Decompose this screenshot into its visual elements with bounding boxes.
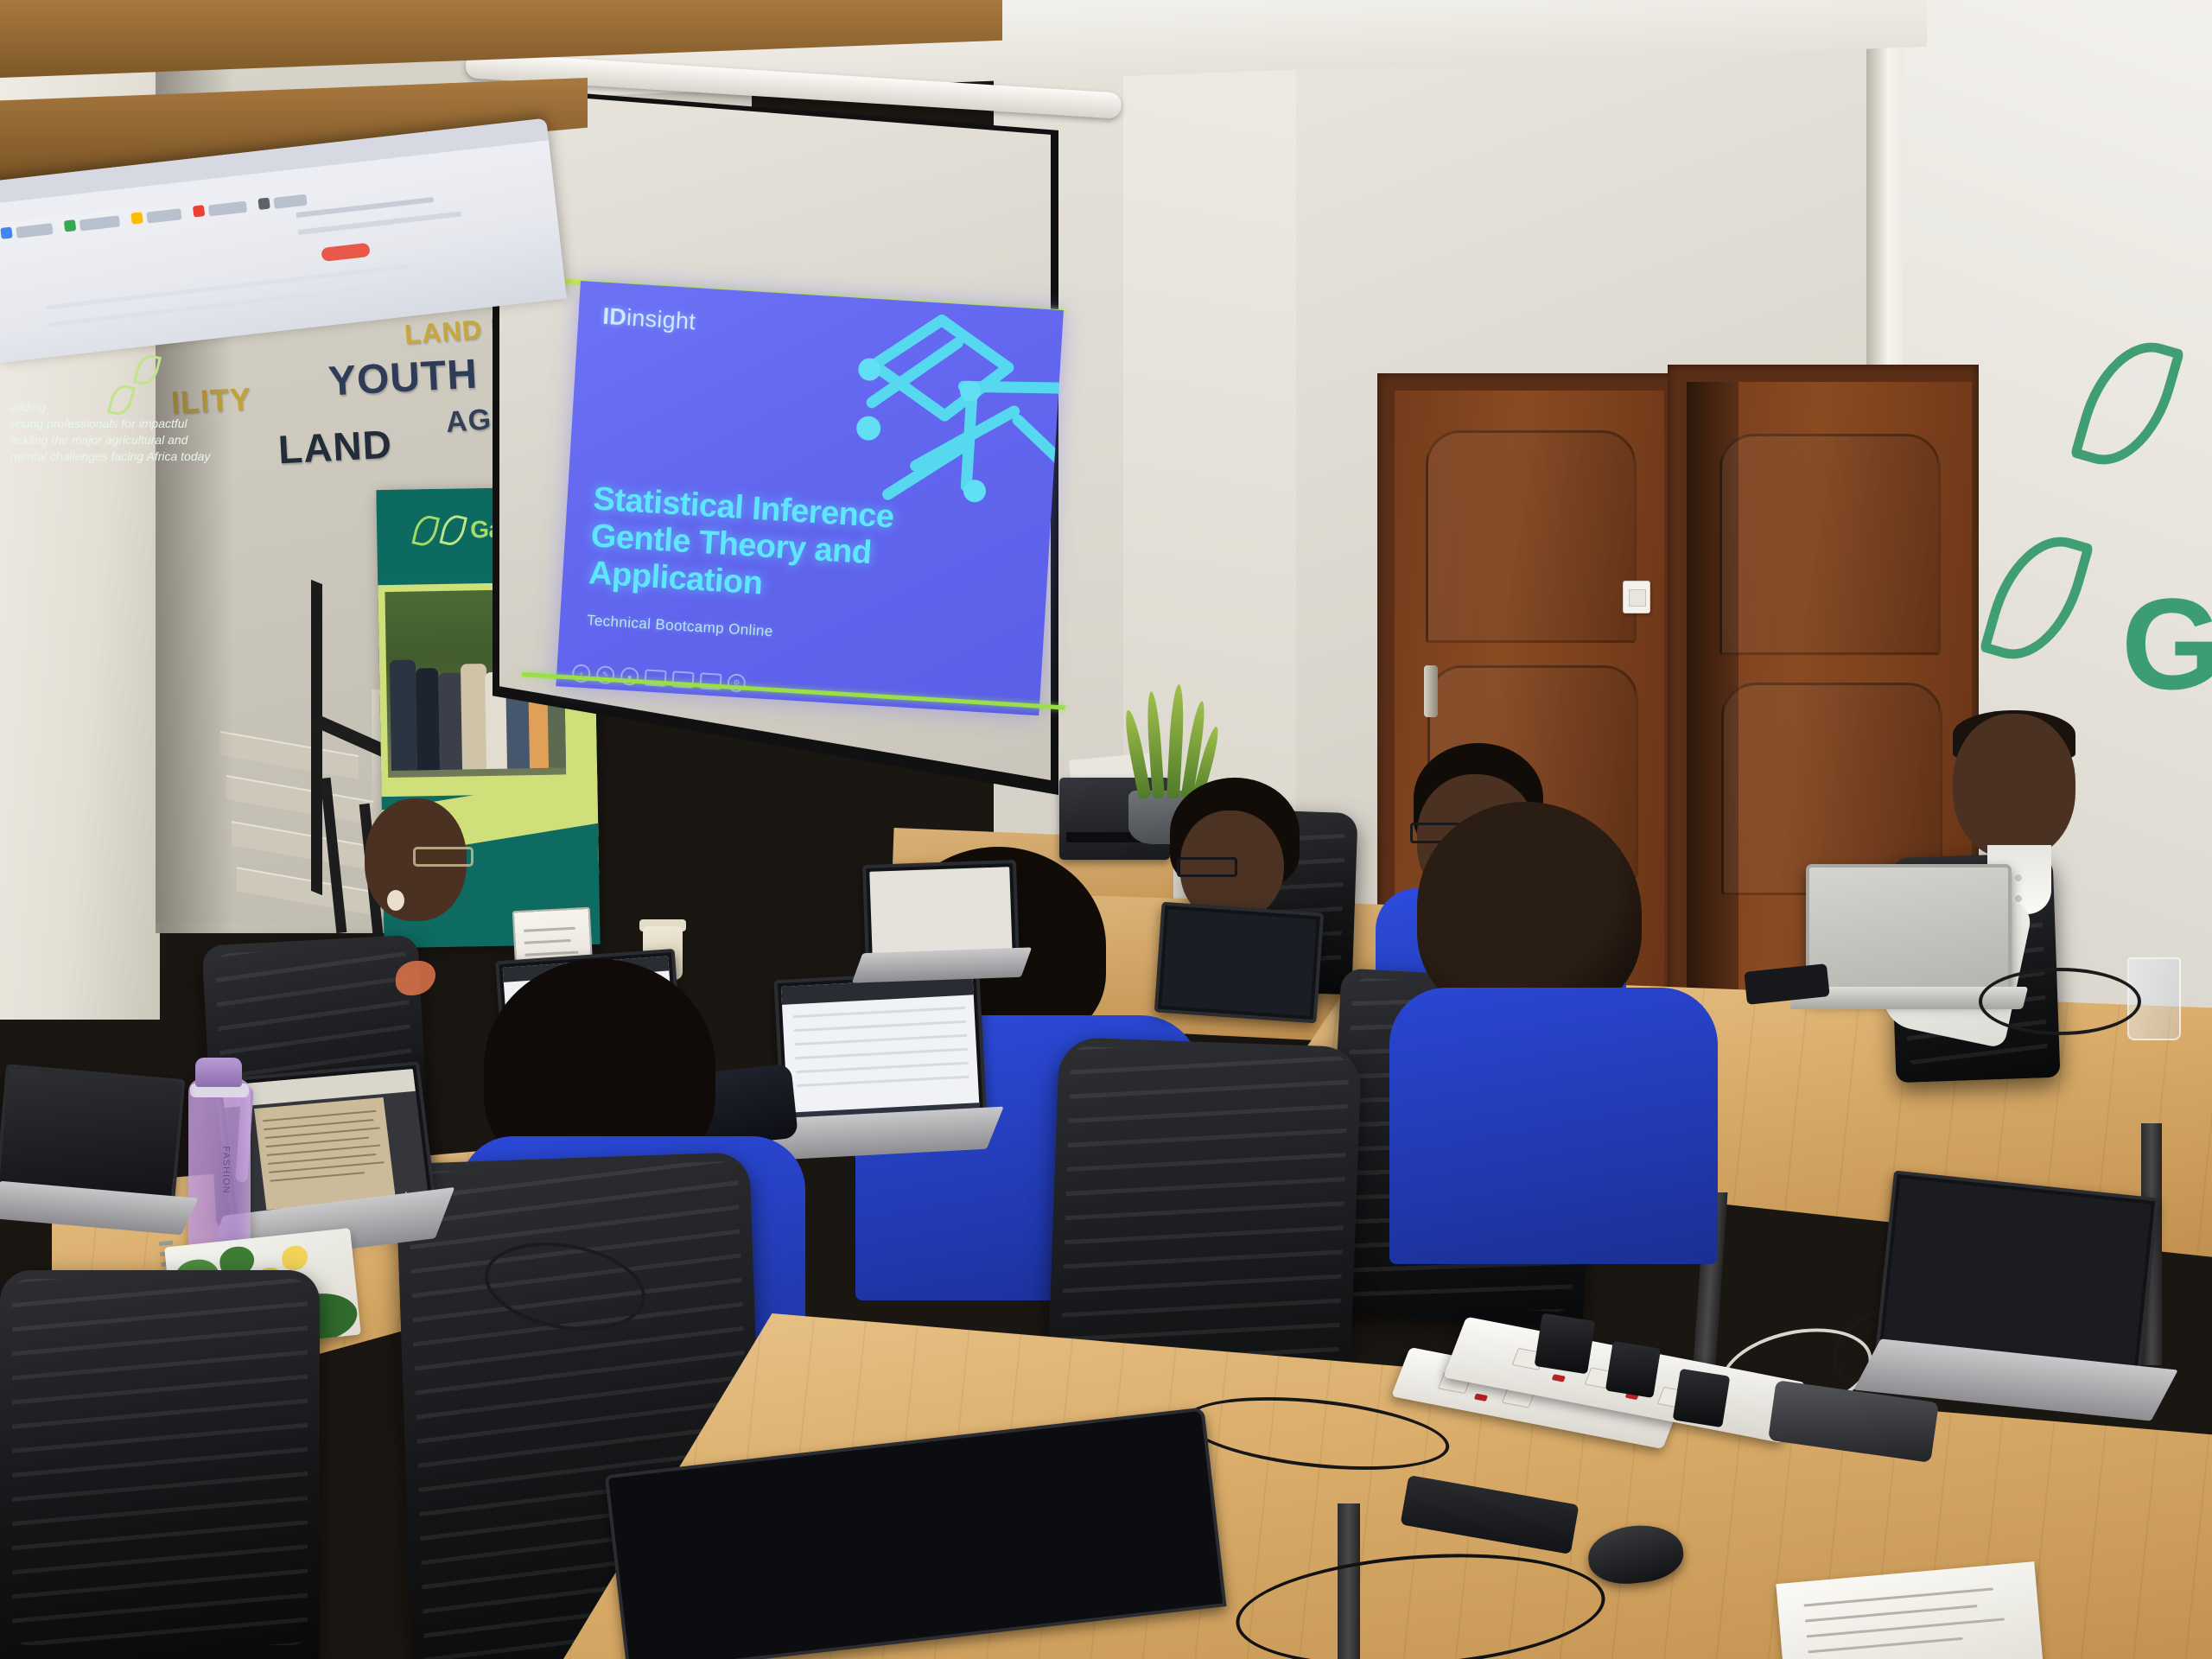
- laptop-display: [781, 976, 980, 1126]
- bookmark-item[interactable]: [16, 223, 53, 238]
- bookmark-item[interactable]: [146, 208, 181, 223]
- bookmark-icon[interactable]: [64, 219, 76, 232]
- bookmark-item[interactable]: [273, 194, 307, 209]
- door-panel: [1719, 434, 1941, 655]
- wall-word-youth: YOUTH: [327, 351, 480, 406]
- laptop-screen[interactable]: [1154, 902, 1324, 1024]
- banner-tagline: uilding young professionals for impactfu…: [10, 399, 216, 465]
- wall-company-logo: G: [1987, 328, 2212, 657]
- record-badge: [321, 243, 370, 262]
- wall-logo-letter: G: [2121, 579, 2212, 709]
- banner-tagline-line: mental challenges facing Africa today: [10, 448, 216, 465]
- training-room-photo: D MANAGEMENT DATA LITERACY WARDSHIP LAND…: [0, 0, 2212, 1659]
- power-plug: [1535, 1313, 1596, 1375]
- laptop-display: [1161, 909, 1316, 1016]
- macbook-lid[interactable]: [1806, 864, 2012, 1001]
- scarf-pattern: [396, 961, 435, 995]
- slide-brand-logo: IDinsight: [602, 303, 696, 336]
- cable: [1979, 968, 2141, 1035]
- power-plug: [1673, 1369, 1731, 1427]
- bookmark-icon[interactable]: [193, 205, 205, 217]
- water-bottle[interactable]: FASHION: [188, 1078, 251, 1251]
- bookmark-icon[interactable]: [0, 226, 12, 238]
- bookmark-item[interactable]: [79, 215, 120, 231]
- office-chair-front[interactable]: [0, 1270, 320, 1659]
- participant-afro: [1417, 802, 1711, 1234]
- presentation-slide: IDinsight Statistical Inference Gentle T…: [556, 281, 1064, 715]
- bookmark-icon[interactable]: [130, 212, 143, 224]
- leaf-icon: [2070, 328, 2185, 479]
- bottle-label-text: FASHION: [221, 1146, 232, 1193]
- torso-blue-tshirt: [1389, 988, 1718, 1264]
- door-panel: [1426, 430, 1637, 643]
- bookmark-item[interactable]: [208, 201, 247, 217]
- slide-subtitle: Technical Bootcamp Online: [586, 612, 773, 640]
- banner-tagline-line: young professionals for impactful: [10, 416, 216, 432]
- laptop-keyboard[interactable]: [852, 947, 1032, 982]
- banner-tagline-line: uilding: [10, 399, 216, 416]
- head: [1953, 714, 2075, 859]
- leaf-icon: [1980, 523, 2094, 673]
- eyeglasses: [1177, 857, 1237, 877]
- slide-brand-prefix: ID: [602, 303, 627, 331]
- slide-brand-suffix: insight: [626, 304, 696, 334]
- bookmark-icon[interactable]: [257, 198, 270, 210]
- slide-title: Statistical Inference Gentle Theory and …: [588, 480, 939, 613]
- apple-logo-icon: [1854, 912, 1894, 957]
- bottle-cap[interactable]: [195, 1058, 242, 1087]
- light-switch[interactable]: [1623, 581, 1650, 613]
- door-handle[interactable]: [1424, 665, 1438, 717]
- power-plug: [1605, 1341, 1661, 1398]
- earring: [387, 890, 404, 911]
- leaf-icon: [439, 512, 467, 548]
- laptop-display: [869, 867, 1012, 960]
- banner-tagline-line: ackling the major agricultural and: [10, 432, 216, 448]
- leaf-icon: [411, 513, 439, 549]
- eyeglasses: [413, 847, 474, 867]
- wall-word-land: LAND: [277, 421, 393, 474]
